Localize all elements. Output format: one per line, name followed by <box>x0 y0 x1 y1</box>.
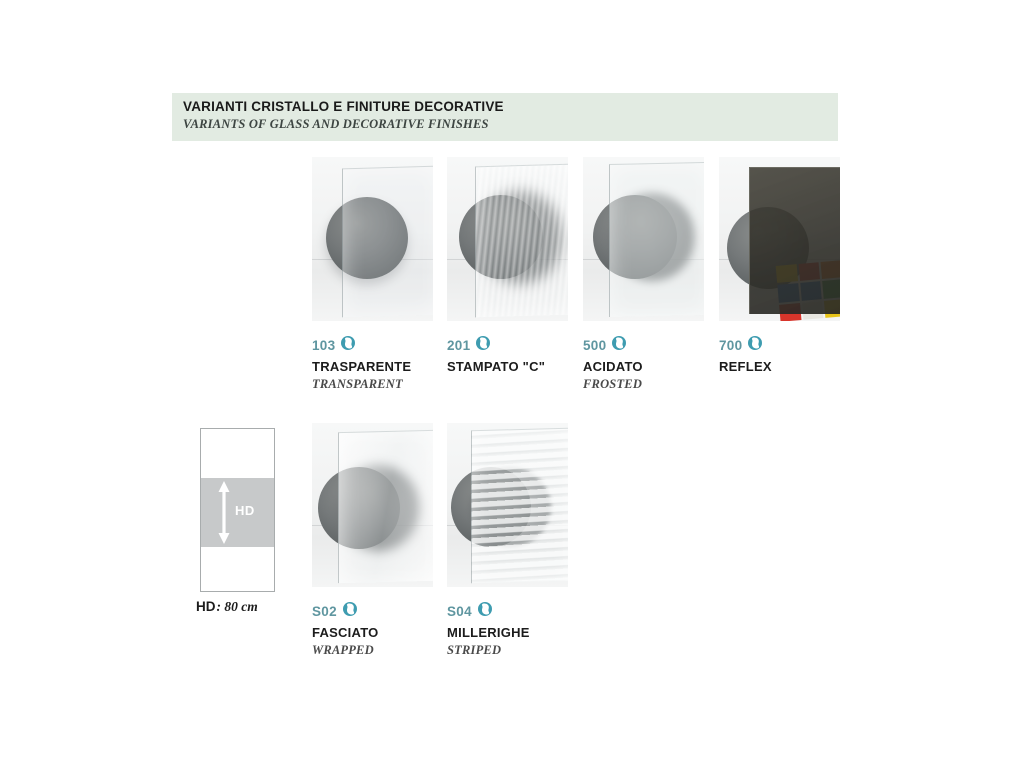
glass-pane-stampato <box>475 164 568 318</box>
sample-card-500[interactable]: 500 ACIDATO FROSTED <box>583 157 704 392</box>
section-title: VARIANTI CRISTALLO E FINITURE DECORATIVE <box>183 99 504 114</box>
glass-finish-icon <box>477 601 493 622</box>
glass-pane-clear <box>342 166 433 318</box>
sample-card-201[interactable]: 201 STAMPATO "C" <box>447 157 568 377</box>
sample-name-en: TRANSPARENT <box>312 377 433 392</box>
section-header-band: VARIANTI CRISTALLO E FINITURE DECORATIVE… <box>172 93 838 141</box>
glass-pane-millerighe <box>471 428 568 584</box>
code-row-500: 500 <box>583 337 704 354</box>
sample-code: 500 <box>583 338 606 353</box>
code-row-700: 700 <box>719 337 840 354</box>
glass-finish-icon <box>475 335 491 356</box>
sample-name-en: WRAPPED <box>312 643 433 658</box>
hd-caption-label: HD <box>196 599 216 614</box>
sample-photo-acidato <box>583 157 704 321</box>
sample-code: S02 <box>312 604 337 619</box>
sample-code: 700 <box>719 338 742 353</box>
sample-name-it: STAMPATO "C" <box>447 359 568 374</box>
sample-photo-stampato-c <box>447 157 568 321</box>
glass-pane-fasciato <box>338 430 433 583</box>
code-row-103: 103 <box>312 337 433 354</box>
hd-caption-value: : 80 cm <box>217 599 258 614</box>
hd-dimension-diagram: HD <box>200 428 275 592</box>
glass-finish-icon <box>611 335 627 356</box>
sample-name-it: REFLEX <box>719 359 840 374</box>
sample-name-it: TRASPARENTE <box>312 359 433 374</box>
sample-photo-millerighe <box>447 423 568 587</box>
glass-finish-icon <box>747 335 763 356</box>
sample-photo-fasciato <box>312 423 433 587</box>
code-row-201: 201 <box>447 337 568 354</box>
glass-pane-reflex <box>749 167 840 314</box>
sample-card-103[interactable]: 103 TRASPARENTE TRANSPARENT <box>312 157 433 392</box>
hd-band-label: HD <box>235 503 255 518</box>
code-row-s02: S02 <box>312 603 433 620</box>
sample-name-en: STRIPED <box>447 643 568 658</box>
sample-code: S04 <box>447 604 472 619</box>
sample-name-it: MILLERIGHE <box>447 625 568 640</box>
code-row-s04: S04 <box>447 603 568 620</box>
glass-pane-acidato <box>609 162 704 317</box>
sample-name-it: FASCIATO <box>312 625 433 640</box>
sample-name-en: FROSTED <box>583 377 704 392</box>
sample-photo-reflex <box>719 157 840 321</box>
sample-card-700[interactable]: 700 REFLEX <box>719 157 840 377</box>
sample-code: 103 <box>312 338 335 353</box>
hd-double-arrow-icon <box>217 481 231 544</box>
hd-caption: HD: 80 cm <box>196 599 258 615</box>
section-subtitle: VARIANTS OF GLASS AND DECORATIVE FINISHE… <box>183 117 489 132</box>
sample-photo-trasparente <box>312 157 433 321</box>
sample-code: 201 <box>447 338 470 353</box>
sample-card-s04[interactable]: S04 MILLERIGHE STRIPED <box>447 423 568 658</box>
glass-finish-icon <box>342 601 358 622</box>
sample-name-it: ACIDATO <box>583 359 704 374</box>
sample-card-s02[interactable]: S02 FASCIATO WRAPPED <box>312 423 433 658</box>
glass-finish-icon <box>340 335 356 356</box>
